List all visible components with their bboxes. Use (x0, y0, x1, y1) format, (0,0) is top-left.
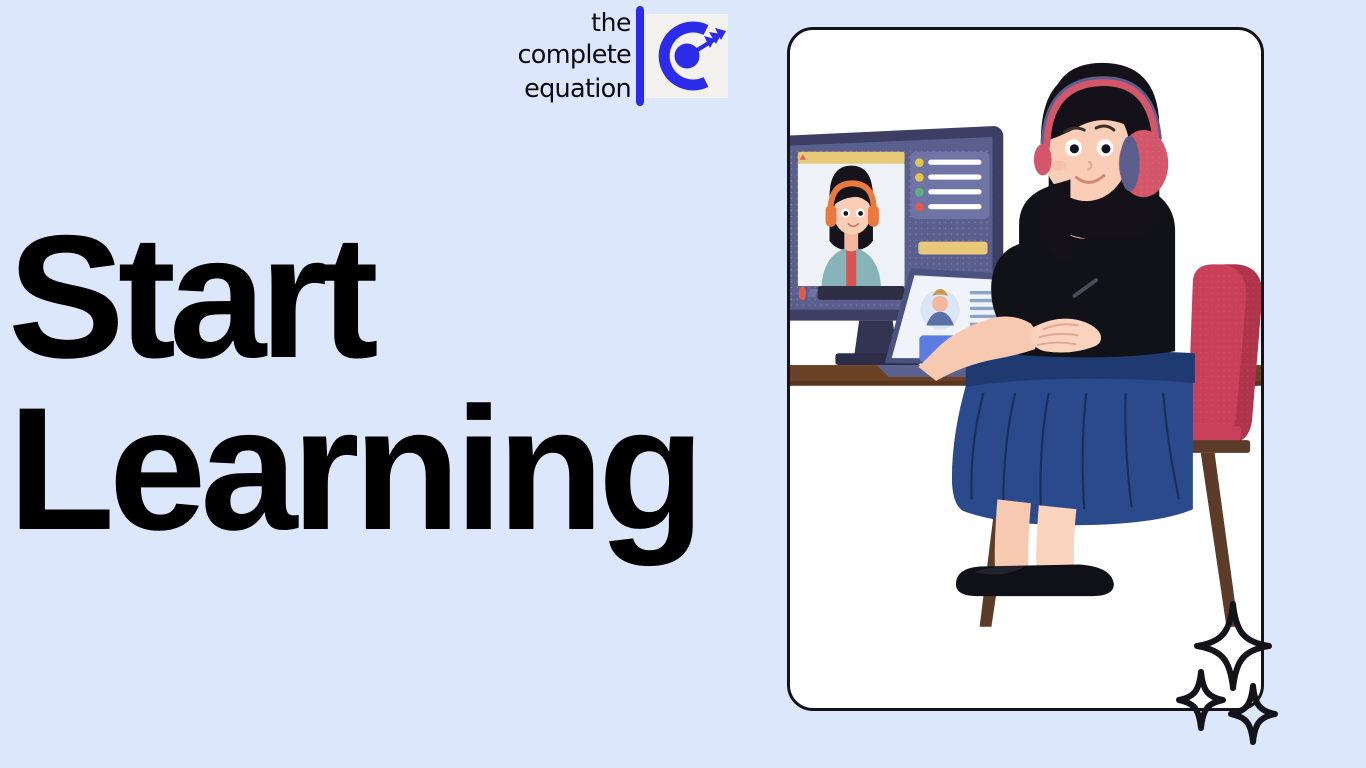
brand-word-line-3: equation (466, 73, 631, 107)
brand-wordmark: the complete equation (466, 6, 631, 106)
poster-canvas: the complete equation Start Learning (0, 0, 1366, 768)
brand-word-line-2: complete (466, 39, 631, 73)
brand-word-line-1: the (466, 6, 631, 39)
brand-logo[interactable]: the complete equation (466, 4, 728, 108)
illustration-scene (790, 30, 1261, 708)
target-with-dart-icon (646, 14, 728, 98)
illustration-card (787, 27, 1264, 711)
headline-line-1: Start (8, 212, 768, 384)
brand-divider-bar (636, 6, 644, 106)
page-title: Start Learning (8, 212, 768, 555)
headline-line-2: Learning (8, 384, 768, 556)
